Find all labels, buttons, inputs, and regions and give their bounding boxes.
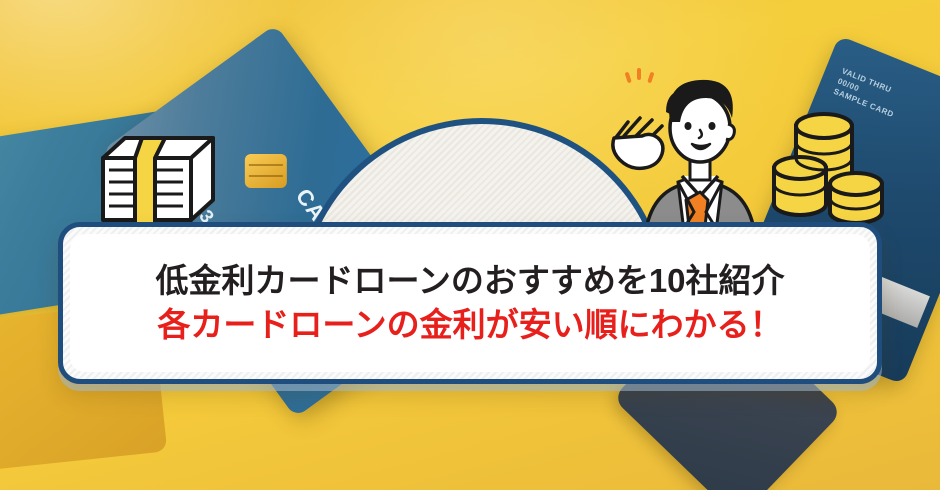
cash-bundle-icon: [95, 128, 220, 233]
coin-stack-icon: [772, 108, 892, 228]
headline-panel-inner: 低金利カードローンのおすすめを10社紹介 各カードローンの金利が安い順にわかる！: [70, 234, 870, 372]
banner-image: CARD JOHN DOE 0123 4567 CARD VALID THRU0…: [0, 0, 940, 490]
headline-line-1: 低金利カードローンのおすすめを10社紹介: [155, 261, 784, 301]
sparkle-icon: [625, 68, 655, 83]
headline-line-2: 各カードローンの金利が安い順にわかる！: [157, 305, 782, 345]
card-chip-icon: [245, 154, 287, 188]
headline-panel: 低金利カードローンのおすすめを10社紹介 各カードローンの金利が安い順にわかる！: [58, 222, 882, 384]
